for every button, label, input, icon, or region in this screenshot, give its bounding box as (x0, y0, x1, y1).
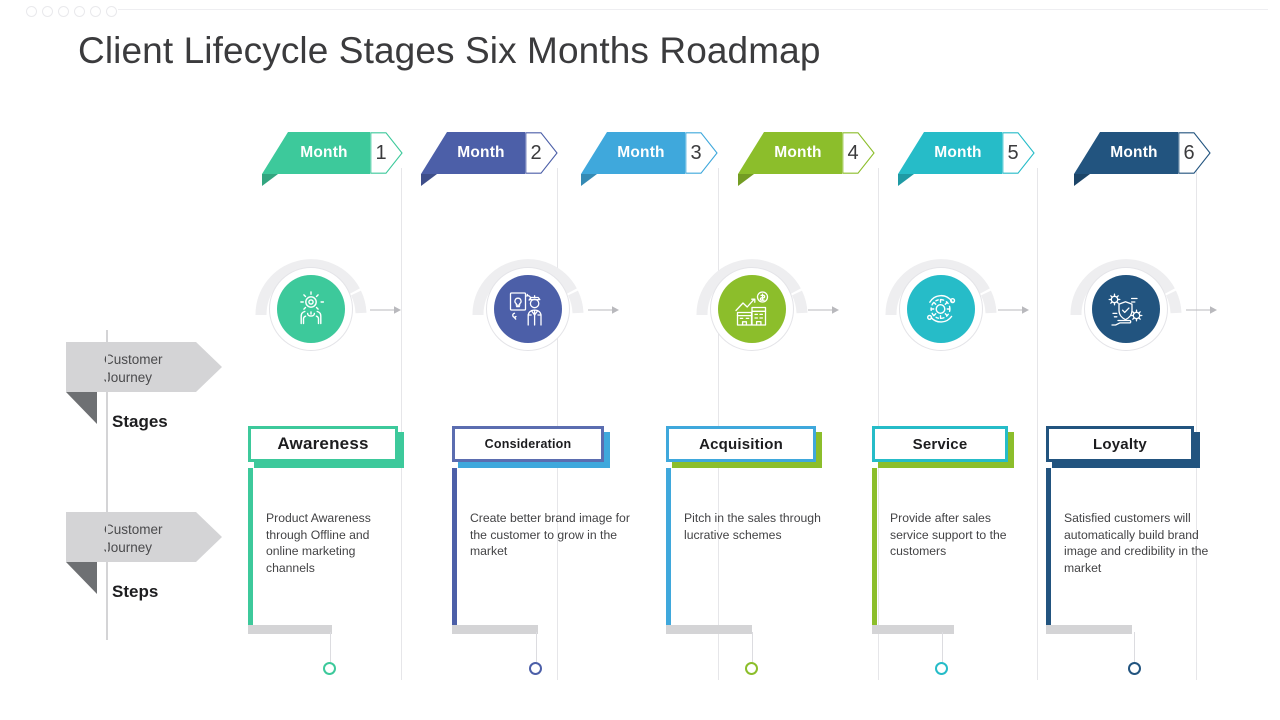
stage-accent-bar-3 (666, 468, 671, 628)
bottom-stem-4 (942, 632, 943, 662)
column-guide-line (718, 168, 719, 680)
bottom-dot-3[interactable] (745, 662, 758, 675)
stage-name: Consideration (485, 437, 572, 451)
stage-icon-node-3[interactable] (696, 253, 808, 365)
bottom-dot-4[interactable] (935, 662, 948, 675)
stage-accent-bar-1 (248, 468, 253, 628)
stage-box-acquisition[interactable]: Acquisition (666, 426, 816, 462)
top-indicator-dot[interactable] (58, 6, 69, 17)
top-indicator-dot[interactable] (42, 6, 53, 17)
month-ribbon-tab (262, 174, 278, 186)
stage-icon-node-1[interactable] (255, 253, 367, 365)
month-number: 6 (1176, 132, 1202, 174)
bottom-dot-5[interactable] (1128, 662, 1141, 675)
month-ribbon-2[interactable]: Month2 (421, 132, 558, 174)
stage-description-4: Provide after sales service support to t… (890, 510, 1010, 560)
stage-name: Service (913, 436, 968, 453)
bottom-stem-2 (536, 632, 537, 662)
month-ribbon-body: Month (262, 132, 370, 174)
buildings-dollar-growth-icon (718, 275, 786, 343)
stage-box-frame: Awareness (248, 426, 398, 462)
column-guide-line (557, 168, 558, 680)
month-ribbon-5[interactable]: Month5 (898, 132, 1035, 174)
node-connector-arrow-2 (588, 305, 620, 315)
stage-name: Acquisition (699, 436, 783, 453)
sidebar-banner-line2: Journey (104, 369, 163, 387)
month-ribbon-tab (898, 174, 914, 186)
column-guide-line (1196, 168, 1197, 680)
column-guide-line (1037, 168, 1038, 680)
sidebar-banner-line2: Journey (104, 539, 163, 557)
top-divider-line (118, 9, 1268, 10)
month-ribbon-4[interactable]: Month4 (738, 132, 875, 174)
stage-icon-node-4[interactable] (885, 253, 997, 365)
month-ribbon-tab (738, 174, 754, 186)
month-number: 5 (1000, 132, 1026, 174)
month-number: 3 (683, 132, 709, 174)
hands-holding-idea-icon (277, 275, 345, 343)
bottom-stem-5 (1134, 632, 1135, 662)
hand-shield-gears-icon (1092, 275, 1160, 343)
stage-box-frame: Service (872, 426, 1008, 462)
sidebar-banner-fold (66, 392, 97, 424)
sidebar-banner-text: CustomerJourney (104, 521, 163, 557)
stage-description-3: Pitch in the sales through lucrative sch… (684, 510, 844, 543)
bottom-dot-2[interactable] (529, 662, 542, 675)
sidebar-stem-line (106, 330, 108, 640)
gear-orbit-icon (907, 275, 975, 343)
bottom-rail-1 (248, 625, 332, 634)
bottom-rail-2 (452, 625, 538, 634)
stage-accent-bar-2 (452, 468, 457, 628)
node-connector-arrow-3 (808, 305, 840, 315)
month-label: Month (1094, 144, 1157, 162)
month-label: Month (918, 144, 981, 162)
month-ribbon-6[interactable]: Month6 (1074, 132, 1211, 174)
stage-box-consideration[interactable]: Consideration (452, 426, 604, 462)
month-ribbon-tab (581, 174, 597, 186)
stage-accent-bar-4 (872, 468, 877, 628)
node-connector-arrow-1 (370, 305, 402, 315)
month-number: 1 (368, 132, 394, 174)
month-ribbon-tab (421, 174, 437, 186)
bottom-rail-3 (666, 625, 752, 634)
month-ribbon-tab (1074, 174, 1090, 186)
stage-icon-node-2[interactable] (472, 253, 584, 365)
month-ribbon-3[interactable]: Month3 (581, 132, 718, 174)
stage-description-5: Satisfied customers will automatically b… (1064, 510, 1224, 576)
month-label: Month (441, 144, 504, 162)
top-indicator-dot[interactable] (106, 6, 117, 17)
stage-box-awareness[interactable]: Awareness (248, 426, 398, 462)
sidebar-banner-2[interactable]: CustomerJourney (66, 512, 222, 562)
month-label: Month (758, 144, 821, 162)
stage-description-2: Create better brand image for the custom… (470, 510, 630, 560)
slide-canvas: Client Lifecycle Stages Six Months Roadm… (0, 0, 1280, 720)
column-guide-line (401, 168, 402, 680)
node-connector-arrow-4 (998, 305, 1030, 315)
top-indicator-dot[interactable] (74, 6, 85, 17)
month-ribbon-body: Month (898, 132, 1002, 174)
top-indicator-dot[interactable] (90, 6, 101, 17)
sidebar-banner-fold (66, 562, 97, 594)
presenter-lightbulb-icon (494, 275, 562, 343)
stage-box-frame: Loyalty (1046, 426, 1194, 462)
sidebar-banner-text: CustomerJourney (104, 351, 163, 387)
month-number: 4 (840, 132, 866, 174)
column-guide-line (878, 168, 879, 680)
stage-box-loyalty[interactable]: Loyalty (1046, 426, 1194, 462)
month-ribbon-body: Month (1074, 132, 1178, 174)
stage-accent-bar-5 (1046, 468, 1051, 628)
bottom-dot-1[interactable] (323, 662, 336, 675)
bottom-rail-5 (1046, 625, 1132, 634)
stage-icon-node-5[interactable] (1070, 253, 1182, 365)
sidebar-banner-line1: Customer (104, 521, 163, 539)
node-connector-arrow-5 (1186, 305, 1218, 315)
month-label: Month (284, 144, 347, 162)
sidebar-banner-1[interactable]: CustomerJourney (66, 342, 222, 392)
stage-name: Awareness (277, 434, 368, 454)
month-ribbon-1[interactable]: Month1 (262, 132, 403, 174)
sidebar-banner-line1: Customer (104, 351, 163, 369)
month-label: Month (601, 144, 664, 162)
bottom-stem-3 (752, 632, 753, 662)
stage-box-service[interactable]: Service (872, 426, 1008, 462)
stage-description-1: Product Awareness through Offline and on… (266, 510, 396, 576)
month-ribbon-body: Month (581, 132, 685, 174)
month-ribbon-body: Month (421, 132, 525, 174)
bottom-stem-1 (330, 632, 331, 662)
month-number: 2 (523, 132, 549, 174)
top-indicator-dot[interactable] (26, 6, 37, 17)
month-ribbon-body: Month (738, 132, 842, 174)
stage-box-frame: Acquisition (666, 426, 816, 462)
stage-name: Loyalty (1093, 436, 1147, 453)
sidebar-caption-stages: Stages (112, 412, 168, 432)
page-title: Client Lifecycle Stages Six Months Roadm… (78, 30, 821, 72)
top-indicator-dots (26, 4, 122, 18)
sidebar-caption-steps: Steps (112, 582, 158, 602)
stage-box-frame: Consideration (452, 426, 604, 462)
